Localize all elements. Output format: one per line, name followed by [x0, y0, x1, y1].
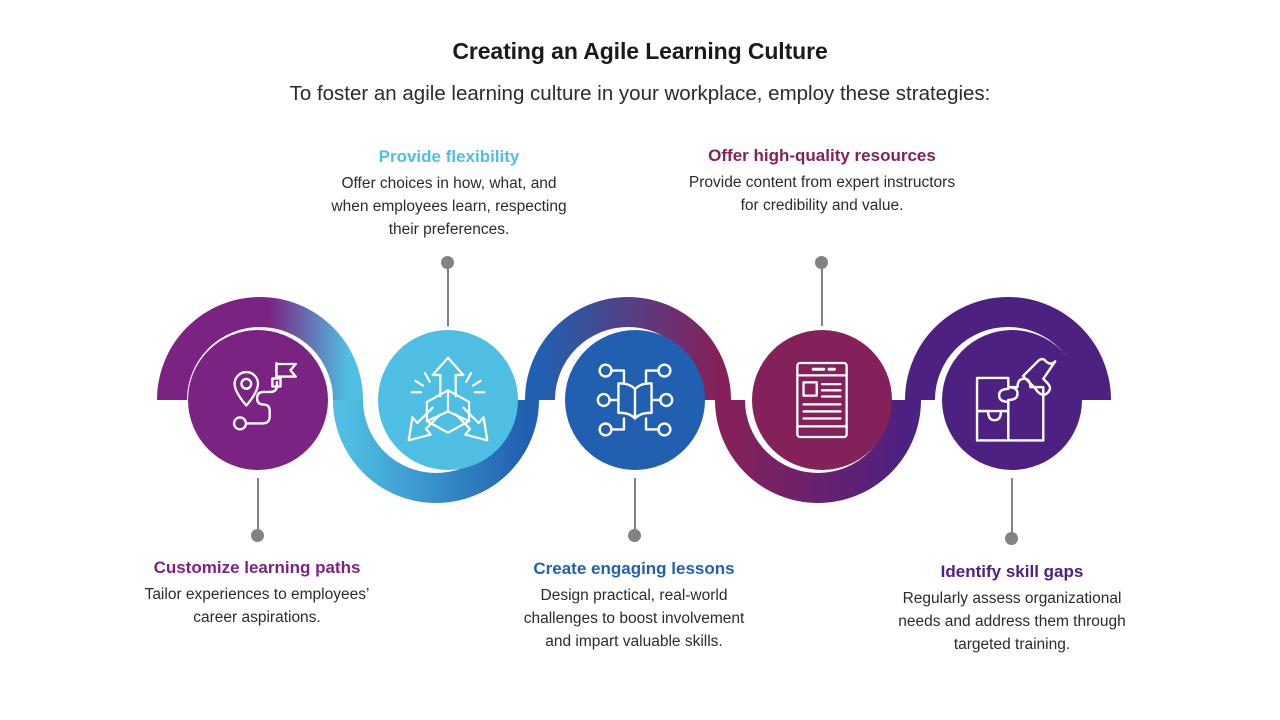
callout-description: Provide content from expert instructors …	[681, 172, 963, 218]
node-customize-learning-paths[interactable]	[188, 330, 328, 470]
connector-dot-1	[251, 529, 264, 542]
connector-dot-4	[815, 256, 828, 269]
callout-title: Identify skill gaps	[872, 561, 1152, 582]
node-create-engaging-lessons[interactable]	[565, 330, 705, 470]
callout-description: Tailor experiences to employees’ career …	[128, 584, 386, 630]
connector-dot-5	[1005, 532, 1018, 545]
callout-provide-flexibility: Provide flexibility Offer choices in how…	[322, 146, 576, 242]
cube-arrows-icon	[400, 352, 496, 448]
route-flag-icon	[213, 355, 303, 445]
article-document-icon	[778, 356, 866, 444]
node-offer-high-quality-resources[interactable]	[752, 330, 892, 470]
callout-identify-skill-gaps: Identify skill gaps Regularly assess org…	[872, 561, 1152, 657]
infographic-canvas: Creating an Agile Learning Culture To fo…	[0, 0, 1280, 720]
connector-stem-3	[634, 478, 636, 535]
callout-description: Regularly assess organizational needs an…	[886, 588, 1138, 657]
connector-stem-4	[821, 266, 823, 326]
callout-customize-learning-paths: Customize learning paths Tailor experien…	[112, 557, 402, 630]
callout-description: Design practical, real-world challenges …	[509, 585, 759, 654]
callout-title: Offer high-quality resources	[678, 145, 966, 166]
connector-stem-2	[447, 266, 449, 326]
callout-title: Customize learning paths	[112, 557, 402, 578]
node-provide-flexibility[interactable]	[378, 330, 518, 470]
callout-title: Create engaging lessons	[502, 558, 766, 579]
node-identify-skill-gaps[interactable]	[942, 330, 1082, 470]
callout-offer-high-quality-resources: Offer high-quality resources Provide con…	[678, 145, 966, 218]
connector-stem-1	[257, 478, 259, 535]
puzzle-pieces-icon	[966, 354, 1058, 446]
callout-title: Provide flexibility	[322, 146, 576, 167]
connector-dot-3	[628, 529, 641, 542]
callout-create-engaging-lessons: Create engaging lessons Design practical…	[502, 558, 766, 654]
book-network-icon	[589, 354, 681, 446]
connector-dot-2	[441, 256, 454, 269]
connector-stem-5	[1011, 478, 1013, 538]
callout-description: Offer choices in how, what, and when emp…	[329, 173, 569, 242]
